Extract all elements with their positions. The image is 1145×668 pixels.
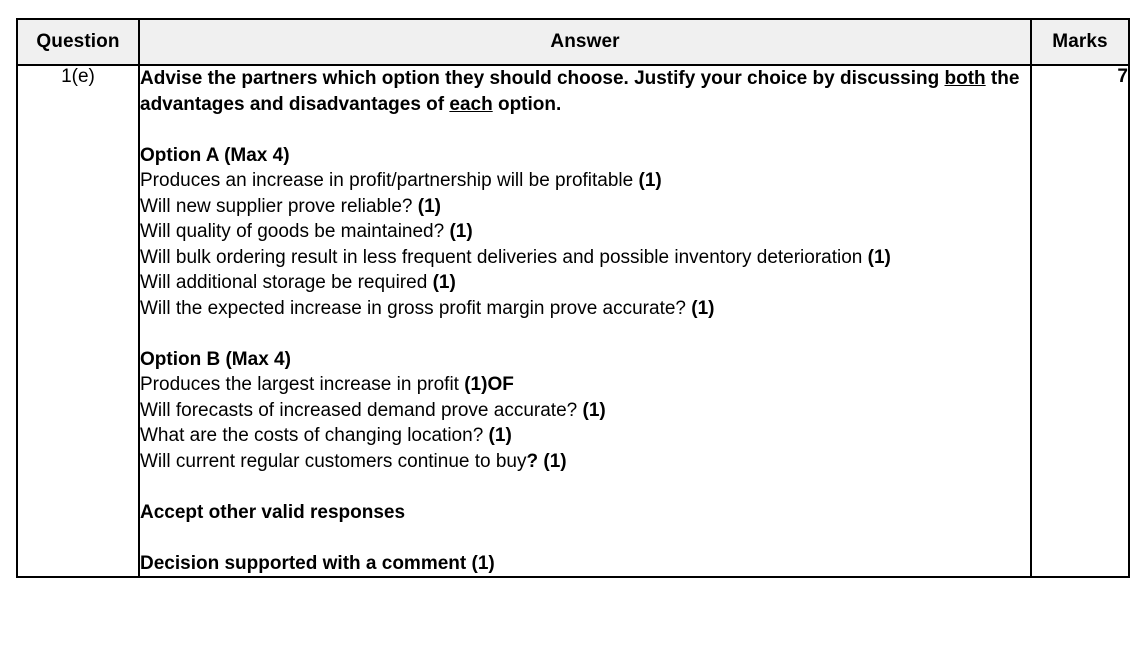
question-number-cell: 1(e) <box>17 65 139 577</box>
prompt-part-3: option. <box>493 94 562 115</box>
option-a-point-2-mark: (1) <box>418 196 441 217</box>
table-body: 1(e) Advise the partners which option th… <box>17 65 1129 577</box>
page-root: Question Answer Marks 1(e) Advise the pa… <box>0 0 1145 668</box>
option-b-point-4: Will current regular customers continue … <box>140 449 1030 475</box>
option-a-point-1: Produces an increase in profit/partnersh… <box>140 168 1030 194</box>
option-a-point-6-text: Will the expected increase in gross prof… <box>140 298 691 319</box>
spacer-after-accept-note <box>140 525 1030 551</box>
decision-supported-text: Decision supported with a comment <box>140 553 472 574</box>
table-header-row: Question Answer Marks <box>17 19 1129 65</box>
option-b-point-2-text: Will forecasts of increased demand prove… <box>140 400 583 421</box>
option-a-point-2-text: Will new supplier prove reliable? <box>140 196 418 217</box>
answer-cell: Advise the partners which option they sh… <box>139 65 1031 577</box>
option-b-point-1: Produces the largest increase in profit … <box>140 372 1030 398</box>
option-b-point-4-text: Will current regular customers continue … <box>140 451 527 472</box>
prompt-underline-each: each <box>449 94 492 115</box>
column-header-marks: Marks <box>1031 19 1129 65</box>
column-header-question: Question <box>17 19 139 65</box>
option-b-point-4-mark-prefix: ? <box>527 451 544 472</box>
option-a-point-1-text: Produces an increase in profit/partnersh… <box>140 170 639 191</box>
option-a-point-5: Will additional storage be required (1) <box>140 270 1030 296</box>
option-a-point-4-text: Will bulk ordering result in less freque… <box>140 247 868 268</box>
option-a-point-6: Will the expected increase in gross prof… <box>140 296 1030 322</box>
option-b-point-3: What are the costs of changing location?… <box>140 423 1030 449</box>
option-a-point-6-mark: (1) <box>691 298 714 319</box>
spacer-after-prompt <box>140 117 1030 143</box>
option-a-point-4-mark: (1) <box>868 247 891 268</box>
decision-supported-mark: (1) <box>472 553 495 574</box>
option-b-point-1-suffix: OF <box>487 374 513 395</box>
option-a-point-5-text: Will additional storage be required <box>140 272 433 293</box>
option-b-point-2: Will forecasts of increased demand prove… <box>140 398 1030 424</box>
option-a-heading: Option A (Max 4) <box>140 143 1030 169</box>
option-b-heading: Option B (Max 4) <box>140 347 1030 373</box>
answer-prompt: Advise the partners which option they sh… <box>140 66 1030 117</box>
table-header: Question Answer Marks <box>17 19 1129 65</box>
table-row: 1(e) Advise the partners which option th… <box>17 65 1129 577</box>
option-a-point-3: Will quality of goods be maintained? (1) <box>140 219 1030 245</box>
marks-value-cell: 7 <box>1031 65 1129 577</box>
mark-scheme-table: Question Answer Marks 1(e) Advise the pa… <box>16 18 1130 578</box>
prompt-part-1: Advise the partners which option they sh… <box>140 68 945 89</box>
decision-supported-note: Decision supported with a comment (1) <box>140 551 1030 577</box>
option-b-point-1-text: Produces the largest increase in profit <box>140 374 464 395</box>
spacer-after-option-a <box>140 321 1030 347</box>
accept-other-responses-note: Accept other valid responses <box>140 500 1030 526</box>
option-a-point-2: Will new supplier prove reliable? (1) <box>140 194 1030 220</box>
option-a-point-3-mark: (1) <box>449 221 472 242</box>
column-header-answer: Answer <box>139 19 1031 65</box>
option-a-point-1-mark: (1) <box>639 170 662 191</box>
spacer-after-option-b <box>140 474 1030 500</box>
option-b-point-1-mark: (1) <box>464 374 487 395</box>
option-a-point-3-text: Will quality of goods be maintained? <box>140 221 449 242</box>
option-a-point-4: Will bulk ordering result in less freque… <box>140 245 1030 271</box>
option-b-point-2-mark: (1) <box>583 400 606 421</box>
option-b-point-3-text: What are the costs of changing location? <box>140 425 489 446</box>
option-a-point-5-mark: (1) <box>433 272 456 293</box>
option-b-point-4-mark: (1) <box>543 451 566 472</box>
option-b-point-3-mark: (1) <box>489 425 512 446</box>
prompt-underline-both: both <box>945 68 986 89</box>
